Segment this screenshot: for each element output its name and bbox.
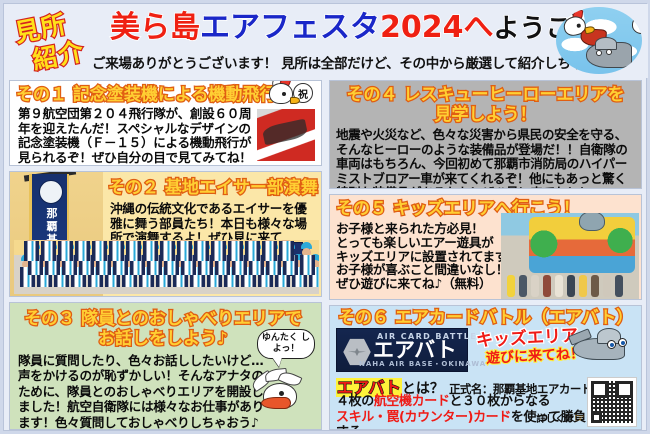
eagle-mascot-head-icon (249, 369, 313, 423)
photo-person (177, 240, 192, 264)
photo-person (279, 240, 294, 264)
photo-person (75, 240, 90, 264)
air-card-battle-logo: AIR CARD BATTLE エアバト NAHA AIR BASE・OKINA… (336, 328, 468, 372)
poster-sheet: 見所 紹介 美ら島エアフェスタ2024へようこそ♪ ご来場ありがとうございます！… (3, 3, 647, 431)
section-1-title: その１ 記念塗装機による機動飛行 (16, 85, 276, 105)
photo-person (300, 242, 315, 278)
section-4-title-line-1: その４ レスキューヒーローエリアを (347, 85, 625, 105)
qr-code[interactable] (587, 377, 637, 427)
section-4-body: 地震や火災など、色々な災害から県民の安全を守る、そんなヒーローのような装備品が登… (336, 128, 638, 189)
section-4-title: その４ レスキューヒーローエリアを 見学しよう！ (330, 85, 641, 125)
costume-shape (143, 241, 158, 261)
photo-person (41, 240, 56, 264)
banner-emblem-icon (39, 180, 63, 204)
pointing-hand-icon: ☞ (574, 411, 585, 425)
costume-shape (279, 241, 294, 261)
costume-shape (211, 241, 226, 261)
page-title: 美ら島エアフェスタ2024へようこそ♪ (110, 9, 614, 48)
section-3-body: 隊員に質問したり、色々お話ししたいけど…声をかけるのが恥ずかしい！そんなアナタの… (18, 353, 266, 430)
photo-person (211, 240, 226, 264)
costume-shape (24, 241, 39, 261)
section-3-title-line-1: その３ 隊員とのおしゃべりエリアで (24, 309, 302, 329)
eye-icon (282, 92, 286, 96)
speech-bubble: ゆんたく しよっ！ (257, 329, 315, 359)
plane-eye-icon (596, 50, 602, 56)
title-part-red-2: 2024へ (380, 10, 494, 45)
sections-grid: その１ 記念塗装機による機動飛行 第９航空団第２０４飛行隊が、創設６０周年を迎え… (9, 80, 643, 430)
costume-shape (126, 241, 141, 261)
logo-main-text: エアバト (373, 339, 457, 361)
costume-shape (177, 241, 192, 261)
photo-person (24, 240, 39, 264)
left-column: その１ 記念塗装機による機動飛行 第９航空団第２０４飛行隊が、創設６０周年を迎え… (9, 80, 322, 430)
costume-shape (92, 241, 107, 261)
costume-shape (109, 241, 124, 261)
eisa-group-photo (14, 240, 319, 294)
photo-person (58, 240, 73, 264)
section-2-panel[interactable]: 那覇基地エイ その２ 基地エイサー部演舞 沖縄の伝統文化であるエイサーを優雅に舞… (9, 171, 322, 297)
section-4-panel[interactable]: その４ レスキューヒーローエリアを 見学しよう！ 地震や火災など、色々な災害から… (329, 80, 642, 189)
desc-line2-part1: スキル・罠(カウンター)カード (336, 410, 511, 425)
section-4-title-line-2: 見学しよう！ (330, 105, 641, 125)
right-column: その４ レスキューヒーローエリアを 見学しよう！ 地震や火災など、色々な災害から… (329, 80, 642, 430)
header-mascot-illustration (556, 7, 642, 74)
photo-person (262, 240, 277, 264)
more-info-label: 詳しくは☞ (536, 411, 585, 425)
section-2-title: その２ 基地エイサー部演舞 (108, 178, 318, 198)
photo-person (519, 275, 527, 297)
commemorative-f15-photo (257, 109, 315, 161)
costume-shape (228, 241, 243, 261)
beak-icon (261, 397, 291, 409)
plane-eye-icon-2 (618, 338, 627, 347)
costume-shape (300, 255, 315, 275)
elephant-decoration-icon (579, 213, 605, 231)
head-shape (632, 15, 642, 34)
costume-shape (194, 241, 209, 261)
photo-person (160, 240, 175, 264)
photo-person (245, 240, 260, 264)
photo-person (194, 240, 209, 264)
costume-shape (160, 241, 175, 261)
poster-header: 見所 紹介 美ら島エアフェスタ2024へようこそ♪ ご来場ありがとうございます！… (4, 4, 648, 78)
plane-mascot-icon-2 (567, 326, 635, 370)
photo-person (567, 275, 575, 297)
plane-eye-icon (607, 340, 616, 349)
section-1-body: 第９航空団第２０４飛行隊が、創設６０周年を迎えたんだ！スペシャルなデザインの記念… (18, 107, 256, 165)
plane-eye-icon-2 (606, 49, 612, 55)
qr-finder-icon (591, 412, 602, 423)
desc-line1-part3: と３０枚からなる (449, 394, 550, 409)
photo-person (109, 240, 124, 264)
desc-line1-part1: ４枚の (336, 394, 374, 409)
costume-shape (245, 241, 260, 261)
costume-shape (58, 241, 73, 261)
photo-person (126, 240, 141, 264)
photo-person (92, 240, 107, 264)
kids-area-photo (501, 213, 639, 299)
logo-bottom-text: NAHA AIR BASE・OKINAWA (359, 359, 486, 369)
poster-page: 見所 紹介 美ら島エアフェスタ2024へようこそ♪ ご来場ありがとうございます！… (0, 0, 650, 434)
photo-person (143, 240, 158, 264)
plane-mascot-icon (586, 42, 632, 68)
page-subtitle: ご来場ありがとうございます！ 見所は全部だけど、その中から厳選して紹介しちゃうよ… (92, 52, 618, 72)
photo-person (555, 275, 563, 297)
section-6-panel[interactable]: その６ エアカードバトル（エアバト） AIR CARD BATTLE エアバト … (329, 305, 642, 430)
more-info-text: 詳しくは (536, 414, 574, 425)
section-1-panel[interactable]: その１ 記念塗装機による機動飛行 第９航空団第２０４飛行隊が、創設６０周年を迎え… (9, 80, 322, 166)
photo-person (615, 275, 623, 297)
section-5-panel[interactable]: その５ キッズエリアへ行こう！ お子様と来られた方必見！ とっても楽しいエアー遊… (329, 194, 642, 300)
photo-person (531, 275, 539, 297)
photo-person (603, 275, 611, 297)
beak-icon (290, 97, 300, 104)
costume-shape (75, 241, 90, 261)
qr-pattern (591, 381, 633, 423)
desc-line1-part2: 航空機カード (374, 394, 450, 409)
costume-shape (41, 241, 56, 261)
photo-person (543, 275, 551, 297)
section-3-panel[interactable]: その３ 隊員とのおしゃべりエリアで お話しをしよう♪ 隊員に質問したり、色々お話… (9, 302, 322, 430)
photo-person (591, 275, 599, 297)
section-5-body: お子様と来られた方必見！ とっても楽しいエアー遊具が キッズエリアに設置されてま… (336, 222, 522, 291)
title-part-blue: エアフェスタ (200, 10, 380, 45)
photo-person (579, 275, 587, 297)
costume-shape (262, 241, 277, 261)
photo-person (228, 240, 243, 264)
photo-person (507, 275, 515, 297)
title-part-red-1: 美ら島 (110, 10, 200, 45)
eye-icon (279, 391, 284, 396)
